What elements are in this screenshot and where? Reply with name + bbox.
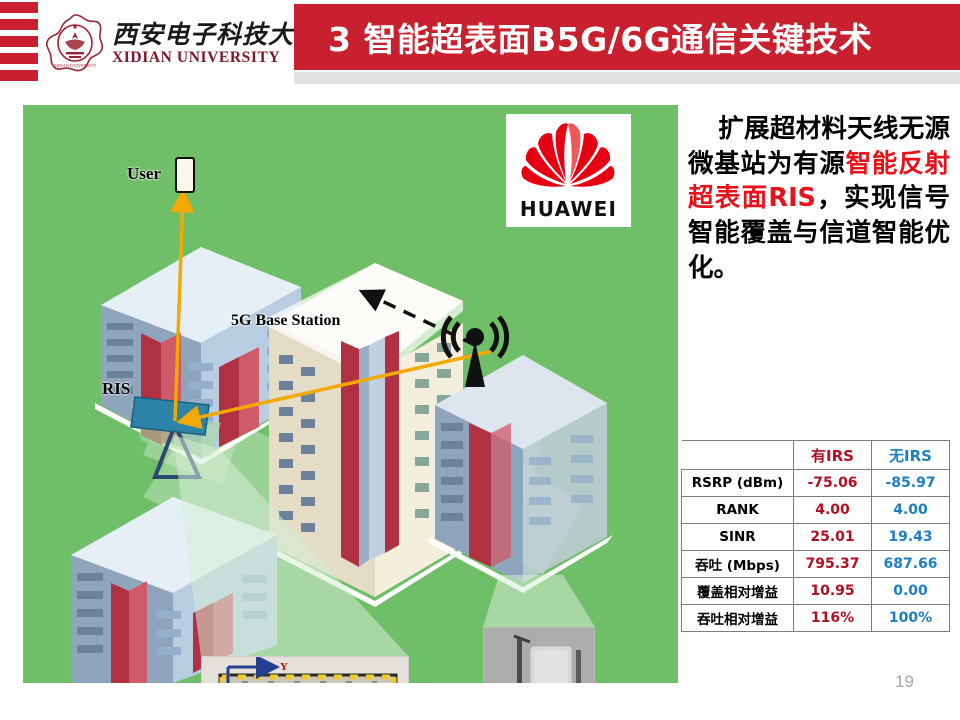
irs-comparison-table: 有IRS 无IRS RSRP (dBm) -75.06 -85.97 RANK …: [681, 440, 950, 632]
university-crest-icon: XIDIAN UNIVERSITY: [44, 12, 106, 78]
header-cell-without-irs: 无IRS: [872, 441, 950, 470]
university-name-cn: 西安电子科技大学: [112, 23, 320, 49]
axis-label-y: Y: [280, 661, 288, 673]
cell-without-irs: 687.66: [872, 551, 950, 578]
row-label: 覆盖相对增益: [682, 578, 794, 605]
title-under-band: [294, 72, 960, 84]
table-row: RANK 4.00 4.00: [682, 497, 950, 524]
row-label: RANK: [682, 497, 794, 524]
cell-with-irs: 4.00: [794, 497, 872, 524]
table-row: 吞吐相对增益 116% 100%: [682, 605, 950, 632]
photo-base-station: [483, 627, 595, 683]
cell-without-irs: 19.43: [872, 524, 950, 551]
label-user: User: [127, 164, 161, 184]
header-cell-with-irs: 有IRS: [794, 441, 872, 470]
row-label: 吞吐相对增益: [682, 605, 794, 632]
callout-text: 扩展超材料天线无源微基站为有源智能反射超表面RIS，实现信号智能覆盖与信道智能优…: [688, 112, 950, 285]
table-row: RSRP (dBm) -75.06 -85.97: [682, 470, 950, 497]
page-title: 3 智能超表面B5G/6G通信关键技术: [328, 13, 872, 61]
table-header-row: 有IRS 无IRS: [682, 441, 950, 470]
university-name-en: XIDIAN UNIVERSITY: [112, 49, 320, 68]
label-ris: RIS: [102, 379, 130, 399]
row-label: SINR: [682, 524, 794, 551]
illustration-panel: User RIS 5G Base Station HUAWEI: [23, 105, 678, 683]
cell-with-irs: 10.95: [794, 578, 872, 605]
header-stripes-decoration: [0, 0, 40, 92]
label-base-station: 5G Base Station: [231, 312, 340, 330]
slide-title-bar: 3 智能超表面B5G/6G通信关键技术: [294, 4, 960, 70]
cell-without-irs: 4.00: [872, 497, 950, 524]
cell-with-irs: 25.01: [794, 524, 872, 551]
row-label: 吞吐 (Mbps): [682, 551, 794, 578]
user-phone-icon: [175, 157, 195, 193]
huawei-petals-icon: [506, 114, 631, 206]
cell-without-irs: -85.97: [872, 470, 950, 497]
table-row: 吞吐 (Mbps) 795.37 687.66: [682, 551, 950, 578]
cell-without-irs: 0.00: [872, 578, 950, 605]
table-row: 覆盖相对增益 10.95 0.00: [682, 578, 950, 605]
row-label: RSRP (dBm): [682, 470, 794, 497]
university-logo: XIDIAN UNIVERSITY 西安电子科技大学 XIDIAN UNIVER…: [44, 2, 280, 88]
cell-with-irs: 795.37: [794, 551, 872, 578]
cell-with-irs: 116%: [794, 605, 872, 632]
slide-root: XIDIAN UNIVERSITY 西安电子科技大学 XIDIAN UNIVER…: [0, 0, 960, 720]
huawei-wordmark: HUAWEI: [506, 197, 631, 221]
svg-text:XIDIAN UNIVERSITY: XIDIAN UNIVERSITY: [53, 63, 97, 68]
table-row: SINR 25.01 19.43: [682, 524, 950, 551]
photo-ris-panel: Y X: [201, 656, 409, 683]
page-number: 19: [895, 672, 914, 692]
header-cell-blank: [682, 441, 794, 470]
huawei-logo: HUAWEI: [506, 114, 631, 227]
cell-without-irs: 100%: [872, 605, 950, 632]
cell-with-irs: -75.06: [794, 470, 872, 497]
